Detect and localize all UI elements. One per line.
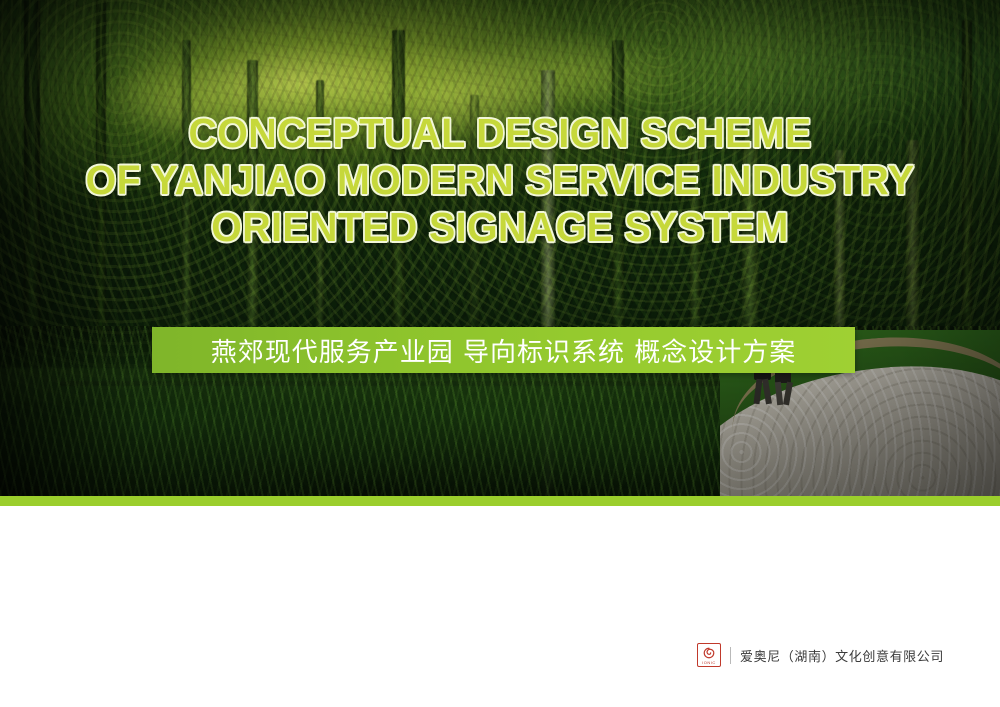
footer-divider (730, 647, 731, 664)
slide-page: CONCEPTUAL DESIGN SCHEME OF YANJIAO MODE… (0, 0, 1000, 707)
hero-photo: CONCEPTUAL DESIGN SCHEME OF YANJIAO MODE… (0, 0, 1000, 496)
logo-wordmark: IONIC (702, 660, 716, 665)
forest-park-photo (0, 0, 1000, 496)
subtitle-banner-text: 燕郊现代服务产业园 导向标识系统 概念设计方案 (211, 332, 797, 369)
accent-strip (0, 496, 1000, 506)
ionic-spiral-logo-icon: IONIC (697, 643, 721, 667)
footer-credit: IONIC 爱奥尼（湖南）文化创意有限公司 (697, 643, 944, 667)
photo-vignette (0, 0, 1000, 496)
company-name: 爱奥尼（湖南）文化创意有限公司 (740, 646, 944, 665)
subtitle-banner: 燕郊现代服务产业园 导向标识系统 概念设计方案 (152, 327, 855, 373)
